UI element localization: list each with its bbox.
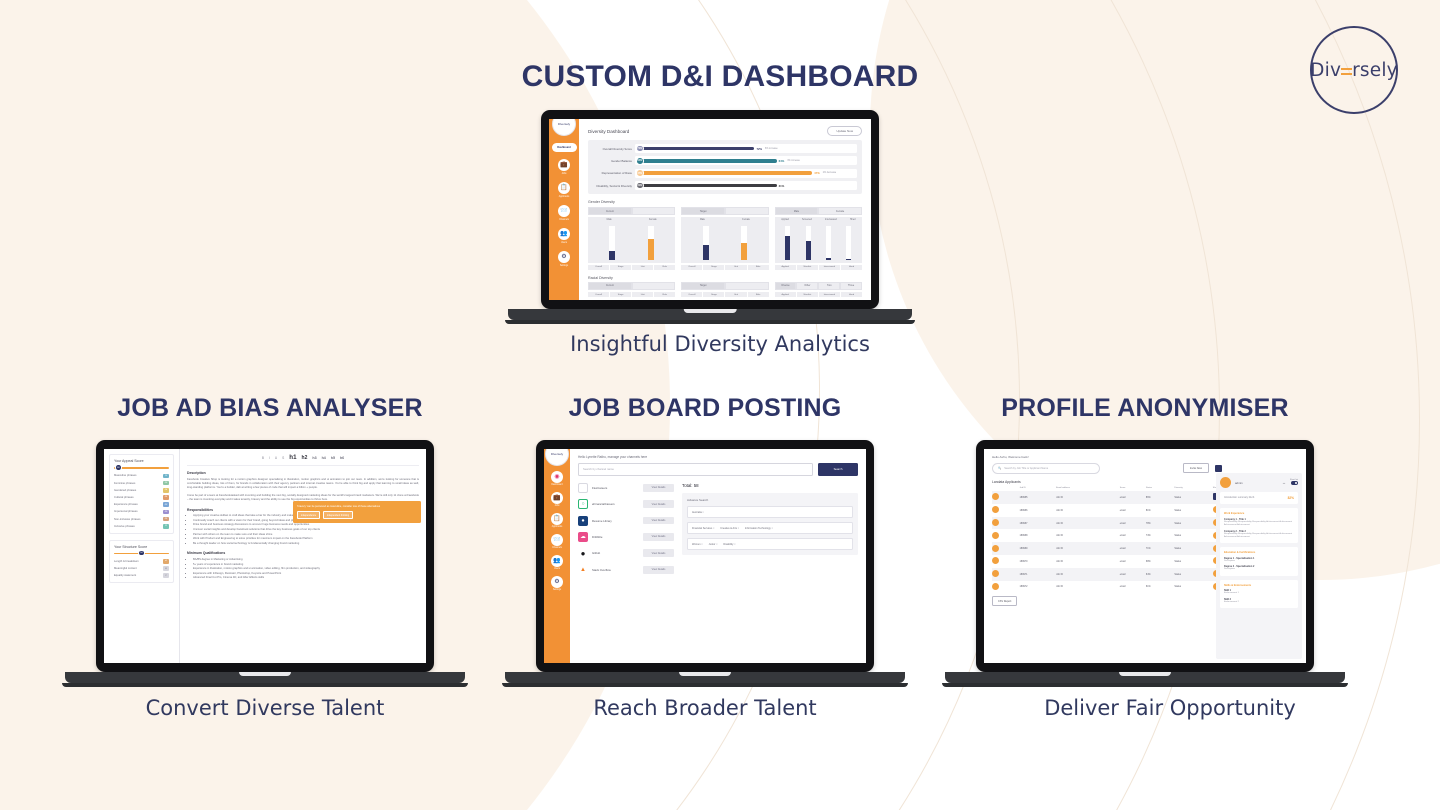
cell-score: 71% (1146, 542, 1174, 555)
sidebar-label-settings: Settings (560, 265, 568, 267)
dashboard-sidebar[interactable]: Diversely Dashboard 💼 Jobs 📋 Applicants … (549, 119, 579, 300)
chart-foot-tab[interactable]: Hired (841, 265, 862, 270)
sidebar-label-users: Users (561, 242, 567, 244)
chart-tab[interactable]: Female (818, 207, 862, 215)
stackoverflow-icon: ▲ (578, 565, 588, 575)
slide-canvas: Divrsely CUSTOM D&I DASHBOARD JOB AD BIA… (0, 0, 1440, 810)
gender-chart-row: Current Male Female (588, 207, 862, 270)
chart-footer[interactable]: Overall Stage Unit Role (588, 265, 675, 270)
page-title-dashboard: CUSTOM D&I DASHBOARD (0, 60, 1440, 94)
sidebar-label-jobs: Jobs (555, 505, 560, 507)
invite-now-button[interactable]: Invite Now (1183, 463, 1209, 473)
bar (703, 245, 709, 261)
score-fill (639, 147, 754, 151)
score-track[interactable]: 72% 72% 8% increase (635, 144, 857, 153)
bar-column (609, 226, 615, 260)
profile-shortlist-toggle[interactable] (1291, 481, 1298, 485)
view-details-button[interactable]: View Details (643, 549, 674, 557)
skills-heading: Skills & Endorsements (1224, 584, 1294, 587)
chart-label: Male (607, 219, 612, 221)
cell-status: Status (1174, 568, 1212, 581)
jobboard-main: Hello Lynette Rathu, manage your channel… (570, 449, 866, 663)
chart-tab[interactable]: Current (588, 207, 632, 215)
work-desc: Responsibility Responsibility Responsibi… (1224, 533, 1294, 540)
channel-name: Github (588, 551, 643, 555)
cell-status: Status (1174, 555, 1212, 568)
bias-item[interactable]: Experience phrases03 (114, 502, 169, 507)
suggestion-chip[interactable]: independence (297, 511, 320, 519)
chart-foot-tab[interactable]: Applied (775, 265, 796, 270)
chart-foot-tab[interactable]: Shortlist (797, 292, 818, 297)
avatar (992, 555, 1020, 568)
filter-tag[interactable]: Women (692, 543, 703, 546)
chart-foot-tab[interactable]: Overall (588, 265, 609, 270)
channel-name: eFinancialCareers (588, 502, 643, 506)
efinancialcareers-icon: ○ (578, 499, 588, 509)
chart-area: Male Female (588, 217, 675, 263)
bold-icon[interactable]: B (262, 456, 264, 460)
cell-job: Job ID (1056, 568, 1120, 581)
cell-score: 68% (1146, 555, 1174, 568)
cell-email: email (1120, 555, 1146, 568)
avatar-circle (992, 519, 999, 526)
bias-item-chip: C (163, 573, 169, 578)
view-details-button[interactable]: View Details (643, 533, 674, 541)
cell-job: Job ID (1056, 504, 1120, 517)
filter-diversity-field[interactable]: Women Junior Disability (687, 538, 853, 550)
chart-foot-tab[interactable]: Unit (632, 265, 653, 270)
search-input[interactable]: Search by channel name (578, 463, 813, 476)
bias-item-label: Length & breakdown (114, 560, 139, 563)
search-input[interactable]: 🔍 Search by Job Title or Applicant Name (992, 463, 1100, 474)
dashboard-title: Diversity Dashboard (588, 129, 629, 134)
bar-column (826, 226, 831, 260)
cell-email: email (1120, 529, 1146, 542)
briefcase-icon[interactable]: 💼 (551, 492, 563, 504)
dashboard-header: Diversity Dashboard Update Now (588, 126, 862, 136)
cell-status: Status (1174, 529, 1212, 542)
underline-icon[interactable]: U (275, 456, 277, 460)
bias-item-label: Gendered phrases (114, 489, 136, 492)
chart-tab[interactable] (725, 207, 769, 215)
bias-item-chip: 11 (163, 524, 169, 529)
sidebar-label-dashboard: Dashboard (551, 484, 562, 486)
bar (846, 259, 851, 260)
suggestion-chip[interactable]: independent thinking (323, 511, 353, 519)
chart-label: Hired (850, 219, 856, 221)
bias-item-label: Experience phrases (114, 503, 138, 506)
advance-search-panel: Advance Search Australia Financial Servi… (682, 493, 858, 555)
sidebar-item-dashboard[interactable]: Dashboard (552, 143, 577, 152)
view-details-button[interactable]: View Details (643, 484, 674, 492)
bias-item-label: Feminine phrases (114, 482, 135, 485)
chart-label: Applied (781, 219, 789, 221)
list-item[interactable]: ● Resume Library View Details (578, 516, 674, 526)
channel-icon[interactable]: 📨 (551, 534, 563, 546)
list-icon[interactable]: 📋 (551, 513, 563, 525)
list-icon[interactable]: 📋 (558, 182, 570, 194)
chart-tabs[interactable]: Target (681, 207, 768, 215)
chart-footer[interactable]: Applied Shortlist Interviewed Hired (775, 292, 862, 297)
chart-foot-tab[interactable]: Role (748, 265, 769, 270)
bar (648, 239, 654, 260)
filter-tag[interactable]: Creative & Arts (720, 527, 739, 530)
chart-foot-tab[interactable]: Unit (632, 292, 653, 297)
filter-industry-field[interactable]: Financial Services Creative & Arts Infor… (687, 522, 853, 534)
laptop-lid-bias: Your Appeal Score 68 Masculine phrases12… (96, 440, 434, 672)
avatar (992, 517, 1020, 530)
list-item: Be a thought leader on how social techno… (193, 542, 419, 547)
heading1-button[interactable]: h1 (289, 454, 296, 461)
chart-foot-tab[interactable]: Interviewed (819, 265, 840, 270)
chart-tab[interactable]: Two (818, 282, 840, 290)
chart-foot-tab[interactable]: Stage (703, 292, 724, 297)
avatar (992, 581, 1020, 594)
cell-id: 189966 (1020, 504, 1057, 517)
chart-footer[interactable]: Applied Shortlist Interviewed Hired (775, 265, 862, 270)
profile-summary: Introduction summary blurb 82% (1220, 492, 1298, 504)
jobboard-sidebar[interactable]: Diversely ◉ Dashboard 💼 Jobs 📋 Applicant… (544, 449, 570, 663)
search-placeholder: Search by Job Title or Applicant Name (1004, 467, 1048, 470)
avatar-circle (992, 570, 999, 577)
list-item[interactable]: ● Github View Details (578, 548, 674, 558)
avatar-circle (992, 583, 999, 590)
chart-tab[interactable]: Target (681, 207, 725, 215)
sidebar-logo: Diversely (552, 119, 576, 136)
avatar (992, 542, 1020, 555)
chart-tab[interactable]: Other (796, 282, 818, 290)
score-label: Overall Diversity Score (593, 147, 635, 151)
settings-icon[interactable]: ⚙ (551, 576, 563, 588)
score-track[interactable]: 47% 47% 2% decrease (635, 169, 857, 178)
chart-footer[interactable]: Overall Stage Unit Role (588, 292, 675, 297)
cell-status: Status (1174, 517, 1212, 530)
cell-id: 189970 (1020, 555, 1057, 568)
score-row: Overall Diversity Score 72% 72% 8% incre… (593, 144, 857, 153)
briefcase-icon[interactable]: 💼 (558, 159, 570, 171)
chart-tab[interactable] (725, 282, 769, 290)
cell-email: email (1120, 504, 1146, 517)
chart-tabs[interactable]: Diverse Other Two Three (775, 282, 862, 290)
chart-foot-tab[interactable]: Shortlist (797, 265, 818, 270)
laptop-lid-anonymiser: Hello Asfru, Welcome back! 🔍 Search by J… (976, 440, 1314, 672)
heading5-button[interactable]: h5 (331, 456, 335, 460)
chart-footer[interactable]: Overall Stage Unit Role (681, 265, 768, 270)
bias-item[interactable]: Gendered phrases04 (114, 488, 169, 493)
chart-tab[interactable] (632, 207, 676, 215)
chart-foot-tab[interactable]: Interviewed (819, 292, 840, 297)
chart-tabs[interactable]: Current (588, 282, 675, 290)
chart-foot-tab[interactable]: Role (748, 292, 769, 297)
cell-email: email (1120, 568, 1146, 581)
chart-foot-tab[interactable]: Stage (703, 265, 724, 270)
italic-icon[interactable]: I (269, 456, 270, 460)
tooltip-text: 'bravery' can be perceived as masculine,… (297, 505, 417, 509)
grid-view-icon[interactable] (1215, 465, 1222, 472)
filter-tag[interactable]: Disability (723, 543, 735, 546)
chart-footer[interactable]: Overall Stage Unit Role (681, 292, 768, 297)
bias-suggestion-tooltip: 'bravery' can be perceived as masculine,… (293, 501, 421, 523)
racial-diversity-heading: Racial Diversity (588, 276, 862, 280)
search-icon: 🔍 (998, 467, 1001, 470)
work-experience-heading: Work Experience (1224, 512, 1294, 515)
sidebar-label-channels: Channels (552, 547, 562, 549)
chart-foot-tab[interactable]: Overall (681, 292, 702, 297)
chart-foot-tab[interactable]: Unit (725, 292, 746, 297)
cell-job: Job ID (1056, 491, 1120, 504)
qualifications-list: BA/BS degree in Marketing or Advertising… (193, 558, 419, 581)
score-knob[interactable]: 64% (636, 157, 644, 165)
laptop-base-shadow-anonymiser (942, 683, 1348, 687)
chart-foot-tab[interactable]: Unit (725, 265, 746, 270)
avatar (992, 568, 1020, 581)
channel-icon[interactable]: 📨 (558, 205, 570, 217)
chart-foot-tab[interactable]: Overall (588, 292, 609, 297)
sidebar-label-applicants: Applicants (559, 196, 570, 198)
avatar-circle (992, 506, 999, 513)
heading6-button[interactable]: h6 (340, 456, 344, 460)
cell-id: 189969 (1020, 542, 1057, 555)
cell-status: Status (1174, 504, 1212, 517)
laptop-base-bias (65, 672, 465, 683)
list-item: Advanced Final Cut Pro, Cinema 4D, and A… (193, 576, 419, 581)
dashboard-app: Diversely Dashboard 💼 Jobs 📋 Applicants … (549, 119, 871, 300)
bias-item[interactable]: Impersonal phrases09 (114, 510, 169, 515)
bias-item-chip: 08 (163, 481, 169, 486)
score-row: Representation of Race 47% 47% 2% decrea… (593, 169, 857, 178)
chart-foot-tab[interactable]: Role (654, 265, 675, 270)
channel-name: Dribbble (588, 535, 643, 539)
heading3-button[interactable]: h3 (312, 456, 316, 460)
laptop-base-shadow-dashboard (505, 320, 915, 324)
score-fill (639, 184, 777, 188)
avatar (992, 529, 1020, 542)
chart-label: Female (742, 219, 750, 221)
score-percent: 72% (756, 147, 762, 151)
cell-score: 86% (1146, 491, 1174, 504)
cell-job: Job ID (1056, 555, 1120, 568)
bias-item-label: Equality statement (114, 574, 136, 577)
chart-tab[interactable]: Male (775, 207, 819, 215)
score-sub: 8% increase (765, 148, 778, 150)
filter-location-field[interactable]: Australia (687, 506, 853, 518)
sidebar-label-users: Users (554, 568, 560, 570)
cell-id: 189968 (1020, 529, 1057, 542)
score-percent: 47% (814, 171, 820, 175)
dashboard-icon[interactable]: ◉ (551, 471, 563, 483)
chart-label: Male (700, 219, 705, 221)
bias-item[interactable]: Inclusive phrases11 (114, 524, 169, 529)
bias-item-label: Masculine phrases (114, 474, 136, 477)
strikethrough-icon[interactable]: S (282, 456, 284, 460)
cell-email: email (1120, 542, 1146, 555)
page-title-jobboard: JOB BOARD POSTING (475, 394, 935, 423)
sidebar-label-channels: Channels (559, 219, 569, 221)
chart-foot-tab[interactable]: Stage (610, 265, 631, 270)
filter-tag[interactable]: Information Technology (745, 527, 773, 530)
tooltip-chips: independence independent thinking (297, 511, 417, 519)
chart-tabs[interactable]: Current (588, 207, 675, 215)
screen-jobboard: Diversely ◉ Dashboard 💼 Jobs 📋 Applicant… (544, 449, 866, 663)
update-now-button[interactable]: Update Now (827, 126, 862, 136)
list-item[interactable]: ○ eFinancialCareers View Details (578, 499, 674, 509)
bias-item[interactable]: Meaningful contentB (114, 566, 169, 571)
sidebar-logo: Diversely (545, 449, 569, 466)
structure-score-knob[interactable]: 54 (138, 550, 145, 557)
view-details-button[interactable]: View Details (643, 517, 674, 525)
list-item[interactable]: FlexCareers View Details (578, 483, 674, 493)
education-block: Education & Certifications Degree 1 - Sp… (1220, 547, 1298, 576)
laptop-base-shadow-bias (62, 683, 468, 687)
bias-item-label: Inclusive phrases (114, 525, 135, 528)
filter-tag[interactable]: Junior (709, 543, 718, 546)
filter-tag[interactable]: Financial Services (692, 527, 714, 530)
chart-foot-tab[interactable]: Overall (681, 265, 702, 270)
cell-score: 64% (1146, 568, 1174, 581)
total-value: 58 (694, 483, 699, 488)
bias-item-chip: 09 (163, 510, 169, 515)
bar-column (806, 226, 811, 260)
bias-item-label: Non-inclusive phrases (114, 518, 140, 521)
bias-item-chip: 12 (163, 474, 169, 479)
summary-score: 82% (1288, 496, 1294, 500)
users-icon[interactable]: 👥 (558, 228, 570, 240)
dashboard-main: Diversity Dashboard Update Now Overall D… (579, 119, 871, 300)
score-knob[interactable]: 72% (636, 145, 644, 153)
jobboard-right: Total: 58 Advance Search Australia Finan… (682, 483, 858, 575)
chart-tabs[interactable]: Target (681, 282, 768, 290)
chart-tab[interactable]: Target (681, 282, 725, 290)
structure-score-slider[interactable]: 54 (114, 553, 169, 555)
chart-foot-tab[interactable]: Role (654, 292, 675, 297)
score-percent: 31% (779, 184, 785, 188)
sidebar-label-applicants: Applicants (552, 526, 563, 528)
cell-id: 189971 (1020, 568, 1057, 581)
score-label: Disability, Social & Diversity (593, 184, 635, 188)
cell-id: 189972 (1020, 581, 1057, 594)
skills-block: Skills & Endorsements Skill 1 Endorsemen… (1220, 580, 1298, 609)
search-row: Search by channel name Search (578, 463, 858, 476)
bias-item-label: Meaningful content (114, 567, 137, 570)
view-details-button[interactable]: View Details (643, 566, 674, 574)
chart-foot-tab[interactable]: Applied (775, 292, 796, 297)
score-track[interactable]: 64% 64% 3% increase (635, 156, 857, 165)
chart-foot-tab[interactable]: Hired (841, 292, 862, 297)
jobboard-body: FlexCareers View Details ○ eFinancialCar… (578, 483, 858, 575)
cell-status: Status (1174, 491, 1212, 504)
cell-score: 61% (1146, 581, 1174, 594)
score-sub: 3% increase (787, 160, 800, 162)
bias-item-chip: 06 (163, 495, 169, 500)
cell-id: 189967 (1020, 517, 1057, 530)
bias-item[interactable]: Length & breakdownA (114, 559, 169, 564)
bias-item[interactable]: Masculine phrases12 (114, 474, 169, 479)
github-icon: ● (578, 548, 588, 558)
users-icon[interactable]: 👥 (551, 555, 563, 567)
bias-item[interactable]: Cultural phrases06 (114, 495, 169, 500)
education-heading: Education & Certifications (1224, 551, 1294, 554)
gender-chart-current: Current Male Female (588, 207, 675, 270)
cell-status: Status (1174, 581, 1212, 594)
score-row: Disability, Social & Diversity 31% 31% (593, 181, 857, 190)
chart-area: Male Female (681, 217, 768, 263)
bias-item-label: Cultural phrases (114, 496, 134, 499)
score-knob[interactable]: 31% (636, 182, 644, 190)
score-row: Gender Balance 64% 64% 3% increase (593, 156, 857, 165)
bar-column (703, 226, 709, 260)
score-track[interactable]: 31% 31% (635, 181, 857, 190)
gender-chart-target: Target Male Female (681, 207, 768, 270)
editor-toolbar[interactable]: B I U S h1 h2 h3 h4 h5 h6 (187, 454, 419, 466)
csv-report-button[interactable]: CSV Report (992, 596, 1017, 606)
chart-tab[interactable]: Three (840, 282, 862, 290)
settings-icon[interactable]: ⚙ (558, 251, 570, 263)
bias-item-chip: B (163, 566, 169, 571)
screen-anonymiser: Hello Asfru, Welcome back! 🔍 Search by J… (984, 449, 1306, 663)
appeal-score-card: Your Appeal Score 68 Masculine phrases12… (109, 454, 174, 534)
description-paragraph-1: Facebook Creative Shop is looking for a … (187, 478, 419, 491)
filter-tag[interactable]: Australia (692, 511, 704, 514)
channel-list: FlexCareers View Details ○ eFinancialCar… (578, 483, 674, 575)
gender-diversity-heading: Gender Diversity (588, 200, 862, 204)
heading2-button[interactable]: h2 (302, 455, 308, 461)
chart-tab[interactable]: Current (588, 282, 632, 290)
list-item[interactable]: ▲ Stack Overflow View Details (578, 565, 674, 575)
bias-item[interactable]: Equality statementC (114, 573, 169, 578)
appeal-score-slider[interactable]: 68 (114, 467, 169, 469)
score-knob[interactable]: 47% (636, 169, 644, 177)
avatar (992, 491, 1020, 504)
cell-job: Job ID (1056, 542, 1120, 555)
score-fill (639, 159, 777, 163)
list-item[interactable]: ☁ Dribbble View Details (578, 532, 674, 542)
view-details-button[interactable]: View Details (643, 500, 674, 508)
avatar (992, 504, 1020, 517)
score-sub: 2% decrease (823, 172, 836, 174)
chart-tab[interactable]: Diverse (775, 282, 797, 290)
laptop-dashboard: Diversely Dashboard 💼 Jobs 📋 Applicants … (541, 110, 879, 325)
bar-column (785, 226, 790, 260)
bias-item-label: Impersonal phrases (114, 510, 138, 513)
cell-job: Job ID (1056, 529, 1120, 542)
bar-column (741, 226, 747, 260)
laptop-jobboard: Diversely ◉ Dashboard 💼 Jobs 📋 Applicant… (536, 440, 874, 690)
appeal-score-knob[interactable]: 68 (115, 464, 122, 471)
chart-tabs[interactable]: Male Female (775, 207, 862, 215)
cell-id: 189965 (1020, 491, 1057, 504)
share-icon[interactable]: ↔ (1282, 480, 1286, 485)
laptop-anonymiser: Hello Asfru, Welcome back! 🔍 Search by J… (976, 440, 1314, 690)
jobboard-app: Diversely ◉ Dashboard 💼 Jobs 📋 Applicant… (544, 449, 866, 663)
cell-email: email (1120, 517, 1146, 530)
chart-tab[interactable] (632, 282, 676, 290)
work-experience-block: Work Experience Company 1 - Title 1 Resp… (1220, 508, 1298, 543)
screen-bias: Your Appeal Score 68 Masculine phrases12… (104, 449, 426, 663)
search-button[interactable]: Search (818, 463, 858, 476)
chart-foot-tab[interactable]: Stage (610, 292, 631, 297)
heading4-button[interactable]: h4 (322, 456, 326, 460)
summary-text: Introduction summary blurb (1224, 496, 1254, 499)
advance-search-title: Advance Search (687, 498, 853, 502)
bias-item[interactable]: Feminine phrases08 (114, 481, 169, 486)
chart-label: Female (649, 219, 657, 221)
bar (806, 241, 811, 260)
caption-jobboard: Reach Broader Talent (480, 696, 930, 720)
bias-item-chip: 03 (163, 502, 169, 507)
bias-item[interactable]: Non-inclusive phrases05 (114, 517, 169, 522)
score-label: Gender Balance (593, 159, 635, 163)
racial-chart-funnel: Diverse Other Two Three Applied Shortlis… (775, 282, 862, 297)
